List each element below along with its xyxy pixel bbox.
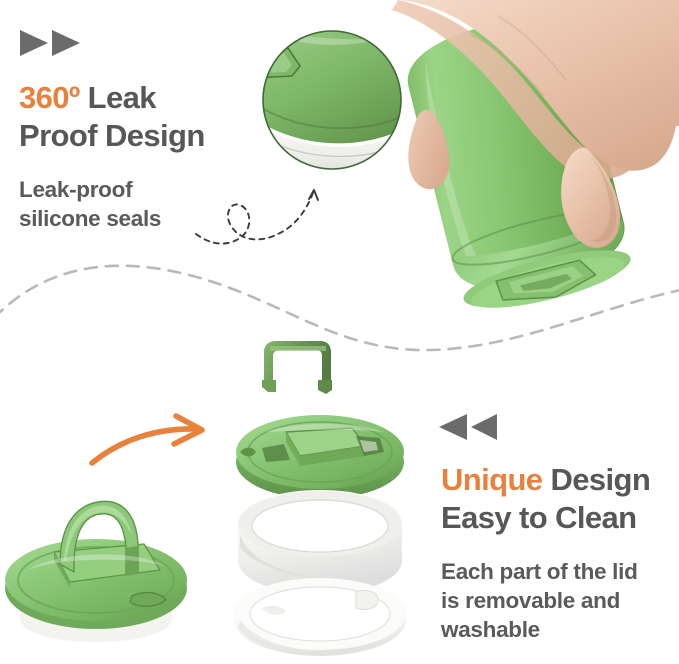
headline-accent-bottom: Unique: [441, 462, 542, 497]
lid-seal-zoom-circle: [244, 30, 412, 182]
silicone-gasket-disc: [234, 578, 406, 656]
orange-curved-arrow: [92, 416, 202, 463]
subtext-line2-bottom: is removable and: [441, 588, 620, 613]
subtext-top-left: Leak-proof silicone seals: [19, 175, 161, 233]
subtext-line1-top: Leak-proof: [19, 177, 132, 202]
fast-forward-icon: [18, 28, 84, 58]
subtext-bottom-right: Each part of the lid is removable and wa…: [441, 557, 638, 644]
headline-line2-top: Proof Design: [19, 118, 205, 153]
lid-handle-upright: [60, 501, 138, 576]
rewind-icon: [435, 411, 501, 443]
subtext-line1-bottom: Each part of the lid: [441, 559, 638, 584]
lid-top-disc: [236, 415, 404, 499]
headline-rest-bottom: Design: [542, 462, 650, 497]
headline-rest-top: Leak: [80, 80, 156, 115]
exploded-lid-parts: [234, 341, 406, 656]
silicone-ring: [238, 490, 402, 594]
headline-line2-bottom: Easy to Clean: [441, 500, 637, 535]
hand-holding-jar: [392, 0, 679, 320]
dashed-loop-arrow: [196, 190, 318, 244]
subtext-line3-bottom: washable: [441, 617, 540, 642]
headline-accent-top: 360º: [19, 80, 80, 115]
assembled-lid-with-handle: [5, 501, 187, 642]
lid-handle-clip: [262, 341, 332, 394]
page-title-bottom-right: Unique Design Easy to Clean: [441, 461, 650, 537]
infographic-canvas: 360º Leak Proof Design Leak-proof silico…: [0, 0, 679, 664]
subtext-line2-top: silicone seals: [19, 206, 161, 231]
page-title-top-left: 360º Leak Proof Design: [19, 79, 205, 155]
dashed-wave-divider: [0, 266, 679, 350]
